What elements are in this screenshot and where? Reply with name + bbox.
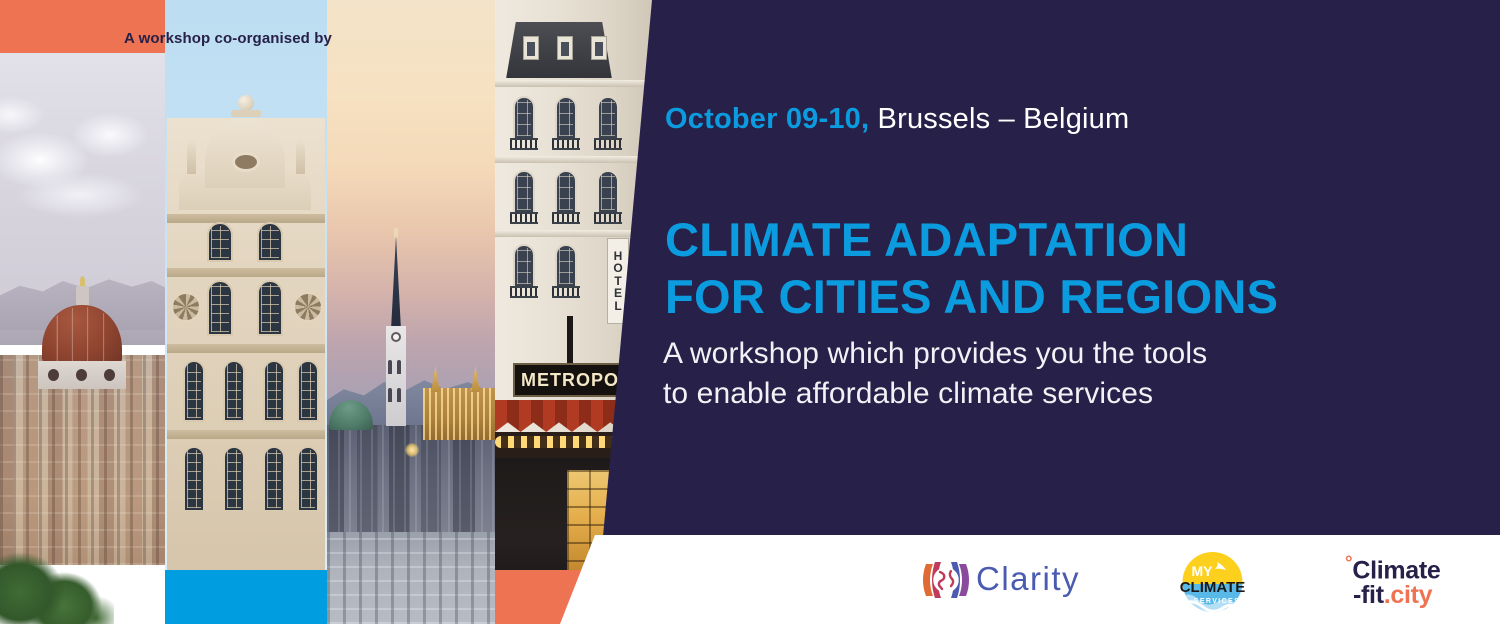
paris-window [597, 96, 619, 140]
headline-line-1: CLIMATE ADAPTATION [665, 213, 1188, 266]
logo-my-climate-services[interactable]: MY CLIMATE SERVICES [1165, 548, 1260, 620]
guildhall-window [183, 360, 205, 422]
mcs-line-services: SERVICES [1194, 598, 1240, 605]
guildhall-window [263, 446, 285, 512]
paris-window [555, 96, 577, 140]
clarity-globe-icon [920, 556, 972, 604]
dormer-window [557, 36, 573, 60]
guildhall-pinnacle [296, 140, 305, 174]
paris-window [555, 170, 577, 214]
headline-line-2: FOR CITIES AND REGIONS [665, 269, 1278, 326]
paris-window [555, 244, 577, 288]
guildhall-cornice [167, 268, 325, 277]
clarity-wordmark: Clarity [976, 560, 1080, 598]
photo-strip-vienna [327, 0, 495, 624]
florence-clouds [0, 40, 165, 230]
logo-clarity[interactable]: Clarity [920, 556, 1100, 604]
event-date-location: October 09-10, Brussels – Belgium [665, 103, 1129, 136]
vienna-church-spire [383, 236, 409, 426]
building-cornice [495, 80, 655, 87]
spire-cone [391, 236, 401, 330]
wrought-iron-balcony [510, 138, 538, 150]
guildhall-oculus [232, 152, 260, 172]
vienna-foreground-roofs [327, 532, 495, 624]
tower-window [388, 360, 392, 374]
florence-duomo [36, 281, 128, 377]
paris-window [513, 244, 535, 288]
paris-window [513, 96, 535, 140]
guildhall-window [207, 280, 233, 336]
guildhall-cornice [167, 214, 325, 223]
metropolitain-sign-text: METROPOL [521, 370, 631, 391]
guildhall-window [297, 446, 319, 512]
guildhall-window [207, 222, 233, 262]
guildhall-cornice [167, 344, 325, 353]
tower-clock [391, 332, 401, 342]
wrought-iron-balcony [510, 212, 538, 224]
vienna-street-lamp [405, 443, 419, 457]
cfc-city-text: .city [1384, 581, 1433, 609]
guildhall-cornice [167, 430, 325, 439]
blue-accent-bar-bottom [165, 570, 327, 624]
duomo-window [48, 369, 59, 381]
page-title: CLIMATE ADAPTATION FOR CITIES AND REGION… [665, 212, 1278, 326]
wrought-iron-balcony [552, 212, 580, 224]
guildhall-window [223, 360, 245, 422]
metro-sign-pole [567, 316, 573, 368]
building-cornice [495, 156, 655, 163]
duomo-window [104, 369, 115, 381]
mcs-line-my: MY [1192, 563, 1214, 579]
florence-foliage [0, 514, 114, 624]
subhead-line-2: to enable affordable climate services [663, 374, 1207, 414]
wrought-iron-balcony [552, 286, 580, 298]
cfc-fit-text: -fit [1353, 581, 1384, 609]
wrought-iron-balcony [594, 138, 622, 150]
event-date: October 09-10, [665, 103, 869, 135]
dormer-window [523, 36, 539, 60]
subhead-line-1: A workshop which provides you the tools [663, 337, 1207, 370]
wrought-iron-balcony [510, 286, 538, 298]
guildhall-window [257, 280, 283, 336]
dormer-window [591, 36, 607, 60]
page-subtitle: A workshop which provides you the tools … [663, 334, 1207, 413]
vienna-sunset-sky [327, 0, 495, 400]
vienna-parliament-building [423, 388, 495, 440]
guildhall-finial-orb [238, 95, 254, 111]
logo-climate-fit-city[interactable]: °Climate -fit.city [1345, 553, 1485, 615]
guildhall-rosette [293, 292, 323, 322]
cfc-line-2: -fit.city [1353, 581, 1432, 610]
guildhall-pinnacle [187, 140, 196, 174]
tower-window [397, 388, 401, 402]
mcs-line-climate: CLIMATE [1180, 579, 1246, 596]
paris-window [513, 170, 535, 214]
event-banner: HOTEL METROPOL October 09-10, Brussels –… [0, 0, 1500, 624]
paris-window [597, 170, 619, 214]
event-location: Brussels – Belgium [869, 103, 1129, 135]
guildhall-rosette [171, 292, 201, 322]
guildhall-window [263, 360, 285, 422]
guildhall-window [297, 360, 319, 422]
wrought-iron-balcony [552, 138, 580, 150]
guildhall-window [183, 446, 205, 512]
wrought-iron-balcony [594, 212, 622, 224]
tower-window [388, 388, 392, 402]
photo-strip-brussels [165, 0, 327, 624]
guildhall-window [257, 222, 283, 262]
tower-window [397, 360, 401, 374]
photo-strip-florence [0, 0, 165, 624]
duomo-window [76, 369, 87, 381]
guildhall-window [223, 446, 245, 512]
coorganiser-credit: A workshop co-organised by [124, 30, 332, 47]
